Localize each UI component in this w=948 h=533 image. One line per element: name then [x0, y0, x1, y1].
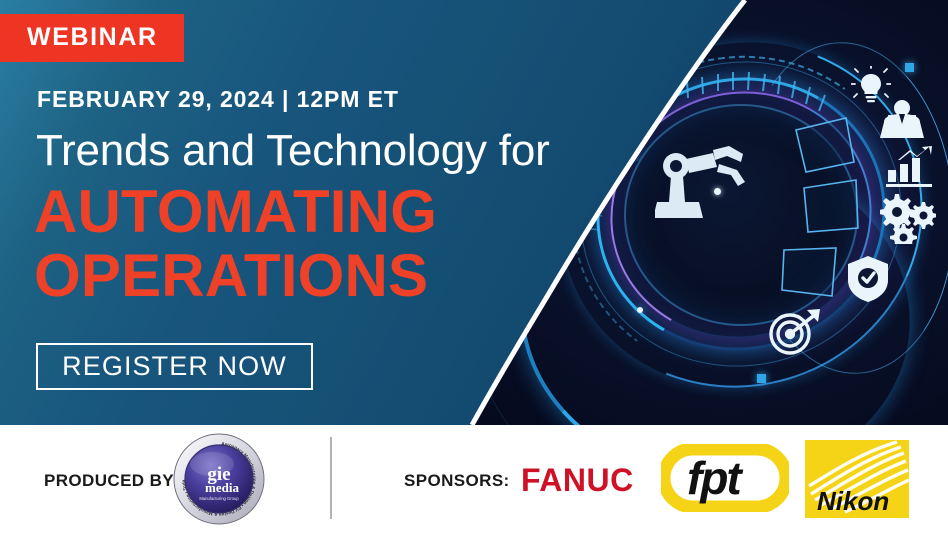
hud-node-bottom	[757, 374, 766, 383]
target-arrow-icon	[766, 306, 824, 358]
headline-subtitle: Trends and Technology for	[36, 126, 550, 176]
webinar-badge: WEBINAR	[0, 14, 184, 62]
bar-chart-growth-icon	[884, 146, 936, 190]
footer-divider	[330, 437, 332, 519]
robot-arm-icon	[655, 140, 775, 240]
sponsors-label: SPONSORS:	[404, 471, 510, 491]
webinar-promo-banner: WEBINAR FEBRUARY 29, 2024 | 12PM ET Tren…	[0, 0, 948, 533]
fpt-logo: fpt	[661, 444, 789, 512]
svg-text:fpt: fpt	[687, 452, 743, 504]
produced-by-label: PRODUCED BY:	[44, 471, 179, 491]
webinar-date: FEBRUARY 29, 2024 | 12PM ET	[37, 86, 399, 113]
gears-icon	[880, 192, 936, 244]
hud-node-dial-b	[637, 307, 643, 313]
hero-section: WEBINAR FEBRUARY 29, 2024 | 12PM ET Tren…	[0, 0, 948, 425]
gie-media-logo: gie media Manufacturing Group Aerospace …	[172, 432, 266, 526]
register-now-button[interactable]: REGISTER NOW	[36, 343, 313, 390]
shield-check-icon	[845, 254, 891, 304]
svg-text:media: media	[205, 480, 239, 495]
svg-text:Manufacturing Group: Manufacturing Group	[199, 496, 239, 501]
svg-text:Nikon: Nikon	[817, 486, 889, 516]
headline-main-line2: OPERATIONS	[34, 245, 428, 307]
businessperson-icon	[878, 98, 926, 140]
headline-main-line1: AUTOMATING	[34, 181, 437, 243]
hud-node-top	[905, 63, 914, 72]
fanuc-logo: FANUC	[521, 464, 634, 496]
nikon-logo: Nikon	[805, 440, 909, 518]
